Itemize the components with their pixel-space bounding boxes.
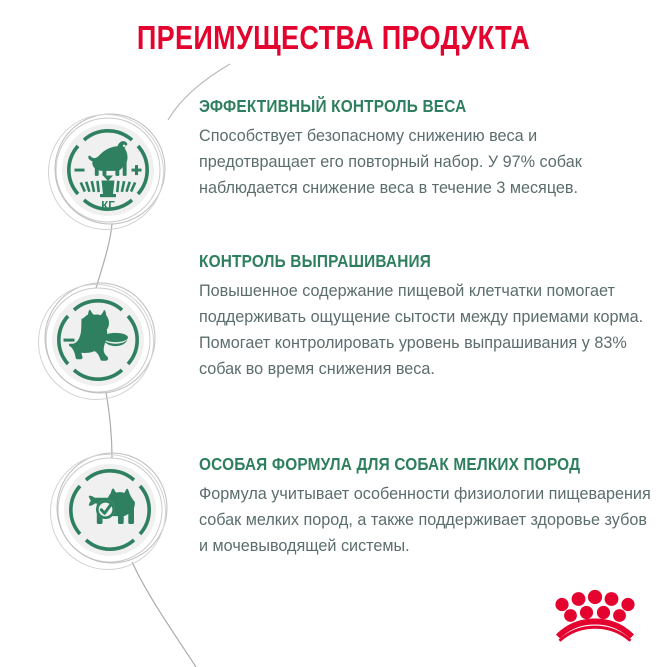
benefit-badge-3	[58, 458, 162, 562]
benefit-body-1: Способствует безопасному снижению веса и…	[199, 123, 651, 201]
benefit-block-3: ОСОБАЯ ФОРМУЛА ДЛЯ СОБАК МЕЛКИХ ПОРОД Фо…	[199, 454, 651, 559]
dog-with-bowl-icon	[52, 294, 144, 386]
scale-unit-label: КГ	[101, 201, 115, 213]
royal-canin-crown-logo	[549, 588, 639, 644]
benefit-badge-1: КГ	[56, 118, 160, 222]
benefit-body-2: Повышенное содержание пищевой клетчатки …	[199, 278, 651, 382]
benefit-block-2: КОНТРОЛЬ ВЫПРАШИВАНИЯ Повышенное содержа…	[199, 251, 651, 382]
benefit-block-1: ЭФФЕКТИВНЫЙ КОНТРОЛЬ ВЕСА Способствует б…	[199, 96, 651, 201]
benefit-body-3: Формула учитывает особенности физиологии…	[199, 481, 651, 559]
page-title: ПРЕИМУЩЕСТВА ПРОДУКТА	[60, 19, 607, 57]
benefit-heading-1: ЭФФЕКТИВНЫЙ КОНТРОЛЬ ВЕСА	[199, 96, 597, 117]
benefit-badge-2	[46, 288, 150, 392]
benefit-heading-2: КОНТРОЛЬ ВЫПРАШИВАНИЯ	[199, 251, 597, 272]
product-benefits-page: ПРЕИМУЩЕСТВА ПРОДУКТА	[0, 0, 667, 667]
benefit-heading-3: ОСОБАЯ ФОРМУЛА ДЛЯ СОБАК МЕЛКИХ ПОРОД	[199, 454, 597, 475]
dog-on-scale-icon: КГ	[62, 124, 154, 216]
small-breed-dog-check-icon	[64, 464, 156, 556]
